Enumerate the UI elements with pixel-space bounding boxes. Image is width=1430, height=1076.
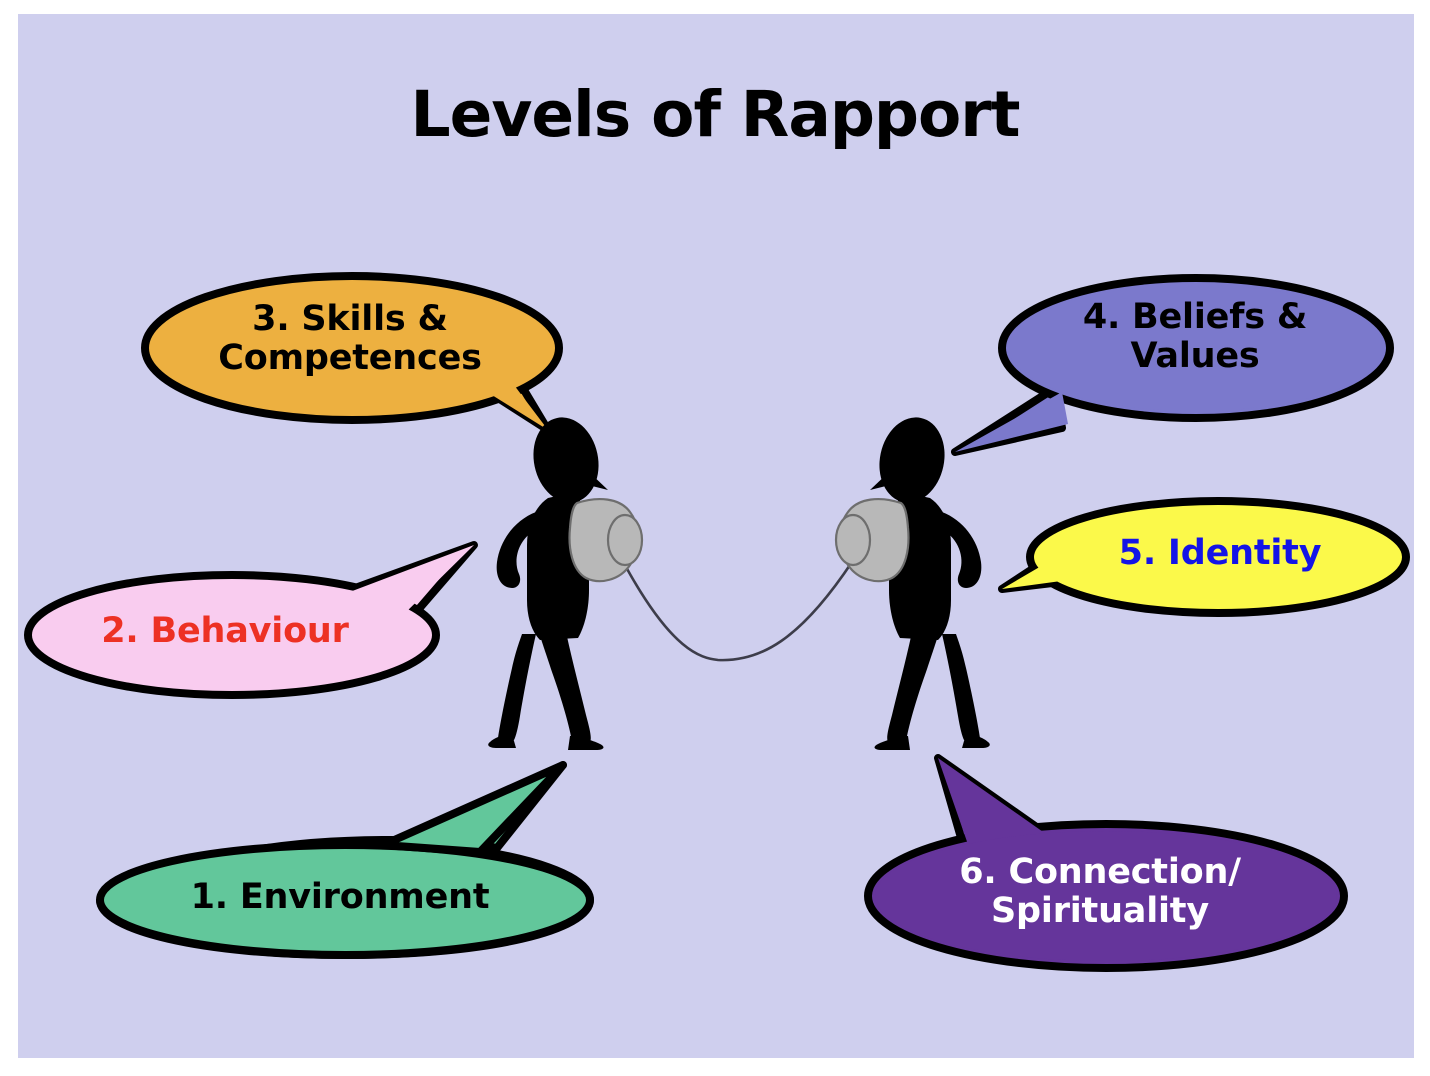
page-title: Levels of Rapport	[0, 78, 1430, 151]
bubble-behaviour[interactable]	[28, 545, 474, 695]
left-person-back-foot	[488, 734, 516, 748]
bubble-environment-tail	[383, 765, 563, 852]
bubble-identity[interactable]	[1002, 501, 1406, 613]
bubble-environment[interactable]	[100, 765, 590, 955]
right-person-figure	[836, 411, 990, 750]
right-person-back-leg	[942, 634, 980, 740]
right-person-back-foot	[962, 734, 990, 748]
tin-can-string	[626, 562, 852, 660]
levels-of-rapport-diagram	[0, 0, 1430, 1076]
left-person-figure	[488, 411, 642, 750]
right-person-front-leg	[887, 632, 938, 742]
slide-canvas: Levels of Rapport 3. Skills & Competence…	[0, 0, 1430, 1076]
bubble-connection[interactable]	[868, 758, 1344, 968]
left-person-tin-can	[570, 499, 642, 581]
left-person-back-leg	[498, 634, 536, 740]
bubble-beliefs[interactable]	[955, 278, 1390, 452]
bubble-skills[interactable]	[145, 276, 559, 430]
left-person-front-leg	[540, 632, 591, 742]
